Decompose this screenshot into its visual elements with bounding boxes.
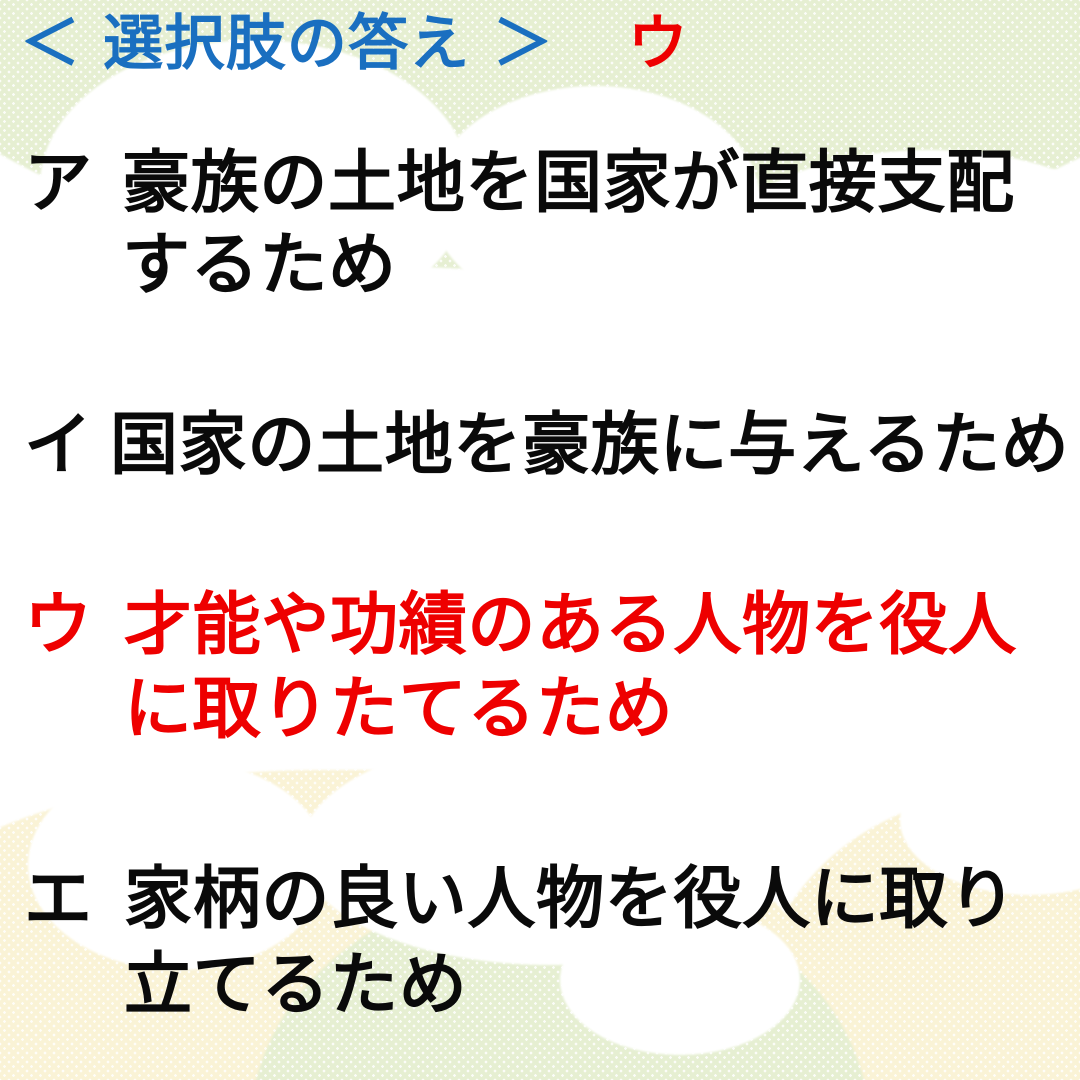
answer-header-value: ウ bbox=[628, 14, 689, 74]
option-i-marker: イ bbox=[24, 406, 92, 485]
answer-header: ＜ 選択肢の答え ＞ ウ bbox=[20, 14, 688, 74]
option-e-marker: エ bbox=[24, 860, 92, 939]
option-u-marker: ウ bbox=[24, 586, 92, 665]
option-e-label: エ bbox=[24, 866, 92, 934]
option-a-text-line-2: するため bbox=[122, 232, 397, 300]
option-a-marker: ア bbox=[24, 144, 92, 223]
option-i-label: イ bbox=[24, 412, 92, 480]
option-i-text-line-1: 国家の土地を豪族に与えるため bbox=[110, 412, 1069, 480]
option-u-text-line-2: に取りたてるため bbox=[124, 676, 673, 744]
option-u-label: ウ bbox=[24, 592, 92, 660]
option-e-text-line-2: 立てるため bbox=[124, 952, 467, 1020]
option-e-text-line-1: 家柄の良い人物を役人に取り bbox=[124, 866, 1017, 934]
answer-slide: ＜ 選択肢の答え ＞ ウ ア 豪族の土地を国家が直接支配 するため イ 国家の土… bbox=[0, 0, 1080, 1080]
option-a-text-line-1: 豪族の土地を国家が直接支配 bbox=[122, 150, 1015, 218]
answer-header-label: ＜ 選択肢の答え ＞ bbox=[20, 14, 554, 74]
slide-content: ＜ 選択肢の答え ＞ ウ ア 豪族の土地を国家が直接支配 するため イ 国家の土… bbox=[0, 0, 1080, 1080]
option-u-text-line-1: 才能や功績のある人物を役人 bbox=[124, 592, 1017, 660]
option-a-label: ア bbox=[24, 150, 92, 218]
